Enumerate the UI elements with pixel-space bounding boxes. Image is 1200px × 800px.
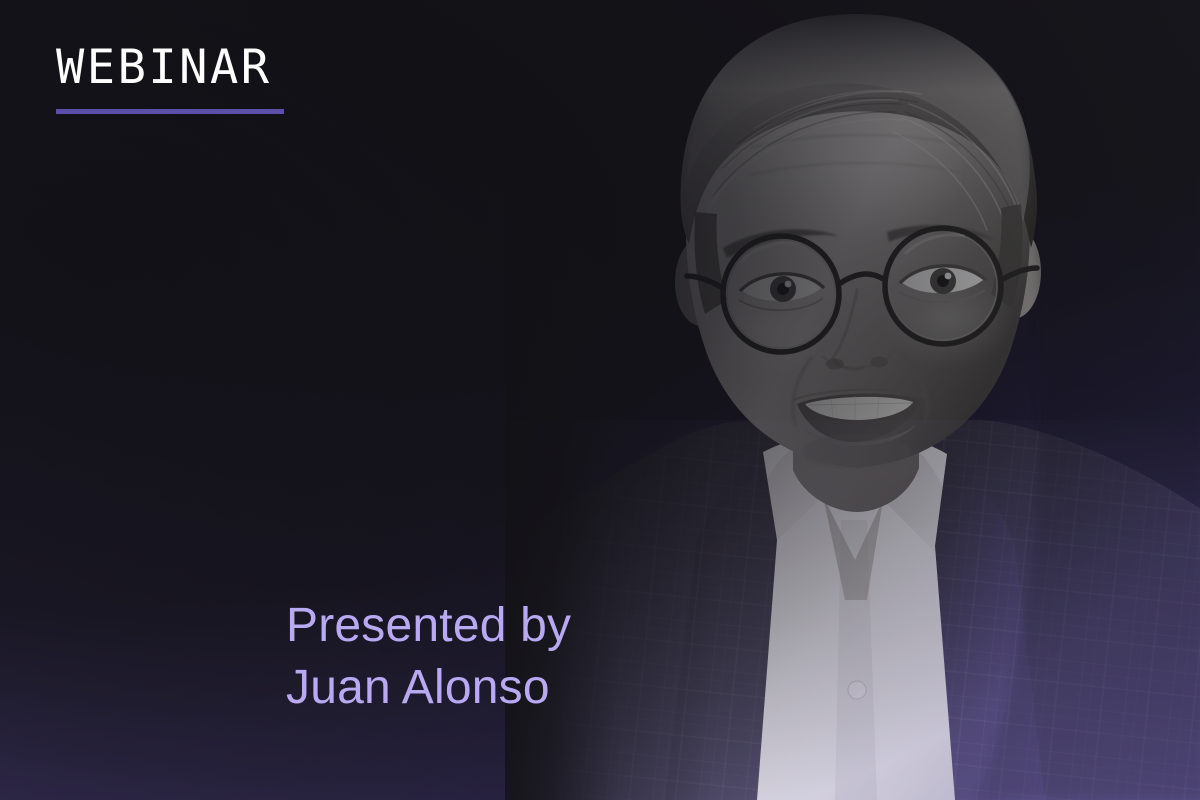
webinar-eyebrow: WEBINAR: [56, 44, 476, 114]
webinar-underline-rule: [56, 109, 284, 114]
presenter-credit: Presented by Juan Alonso: [286, 595, 806, 719]
webinar-promo-card: WEBINAR Presented by Juan Alonso: [0, 0, 1200, 800]
webinar-label: WEBINAR: [56, 44, 476, 91]
presented-by-label: Presented by: [286, 595, 806, 657]
presenter-name: Juan Alonso: [286, 657, 806, 719]
